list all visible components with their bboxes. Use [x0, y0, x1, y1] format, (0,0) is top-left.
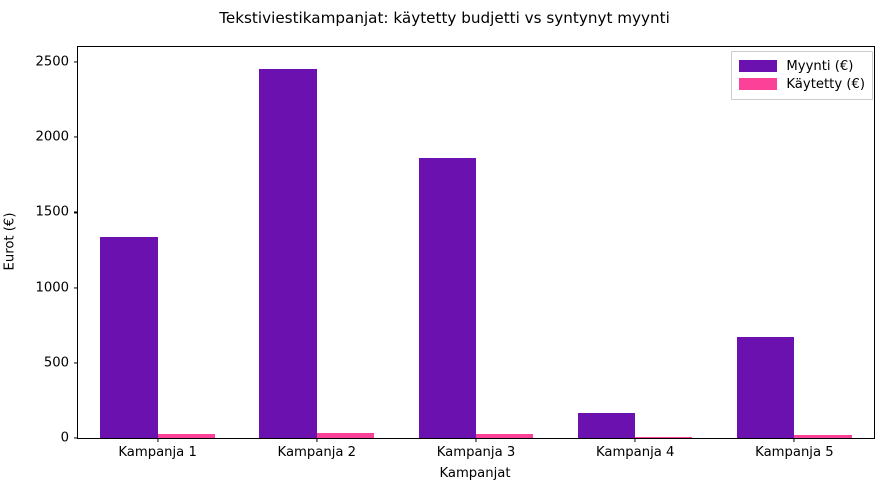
bar-kaytetty-3 [476, 434, 533, 438]
y-axis-tick-label: 1500 [35, 205, 69, 220]
x-axis-tick-label: Kampanja 1 [118, 445, 196, 460]
plot-area: 05001000150020002500Kampanja 1Kampanja 2… [77, 46, 875, 439]
y-axis-label: Eurot (€) [0, 46, 20, 437]
bar-myynti-5 [737, 337, 794, 439]
x-axis-tick-label: Kampanja 5 [755, 445, 833, 460]
x-axis-tick-mark [316, 438, 317, 442]
chart-legend: Myynti (€)Käytetty (€) [731, 51, 873, 100]
y-axis-tick-label: 500 [44, 355, 69, 370]
legend-label: Käytetty (€) [786, 77, 865, 92]
legend-item-kaytetty: Käytetty (€) [739, 75, 865, 93]
bar-myynti-1 [100, 237, 157, 439]
bar-kaytetty-2 [317, 433, 374, 438]
y-axis-tick-label: 2000 [35, 130, 69, 145]
legend-swatch [739, 78, 777, 90]
bar-kaytetty-5 [794, 435, 851, 438]
chart-figure: Tekstiviestikampanjat: käytetty budjetti… [0, 0, 889, 490]
y-axis-tick-mark [74, 362, 78, 363]
y-axis-label-text: Eurot (€) [3, 213, 18, 271]
bar-kaytetty-4 [635, 437, 692, 439]
bar-myynti-2 [259, 69, 316, 438]
x-axis-tick-label: Kampanja 4 [596, 445, 674, 460]
y-axis-tick-mark [74, 437, 78, 438]
y-axis-tick-mark [74, 212, 78, 213]
y-axis-tick-label: 0 [61, 431, 69, 446]
y-axis-tick-label: 1000 [35, 280, 69, 295]
y-axis-tick-label: 2500 [35, 55, 69, 70]
y-axis-tick-mark [74, 61, 78, 62]
legend-item-myynti: Myynti (€) [739, 57, 865, 75]
chart-title: Tekstiviestikampanjat: käytetty budjetti… [0, 9, 889, 27]
y-axis-tick-mark [74, 137, 78, 138]
x-axis-tick-label: Kampanja 2 [278, 445, 356, 460]
legend-label: Myynti (€) [786, 59, 853, 74]
x-axis-label: Kampanjat [77, 466, 873, 481]
bar-myynti-4 [578, 413, 635, 438]
x-axis-tick-mark [794, 438, 795, 442]
legend-swatch [739, 60, 777, 72]
bar-myynti-3 [419, 158, 476, 438]
bar-kaytetty-1 [158, 434, 215, 439]
x-axis-tick-label: Kampanja 3 [437, 445, 515, 460]
y-axis-tick-mark [74, 287, 78, 288]
x-axis-tick-mark [157, 438, 158, 442]
bars-layer [78, 47, 874, 438]
x-axis-tick-mark [475, 438, 476, 442]
x-axis-tick-mark [635, 438, 636, 442]
